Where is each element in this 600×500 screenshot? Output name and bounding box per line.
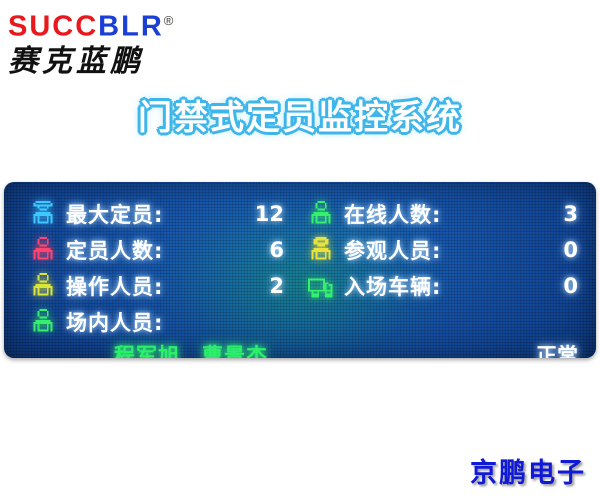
brand-wordmark-red: SUCC <box>8 11 98 43</box>
led-label-operator-count: 操作人员: <box>66 271 242 301</box>
registered-trademark-icon: ® <box>164 13 174 28</box>
brand-wordmark-blue: BLR <box>98 11 164 43</box>
led-value-operator-count: 2 <box>242 274 298 298</box>
person-icon <box>20 233 66 267</box>
led-value-assigned-count: 6 <box>242 238 298 262</box>
led-label-vehicle-count: 入场车辆: <box>344 271 520 301</box>
person-icon <box>20 305 66 339</box>
led-grid: 最大定员: 12 在线人数: 3 <box>4 182 596 358</box>
truck-icon <box>298 269 344 303</box>
status-badge: 正常 <box>520 340 592 358</box>
brand-header: SUCCBLR® 赛克蓝鹏 <box>8 6 228 76</box>
led-label-online-count: 在线人数: <box>344 199 520 229</box>
led-value-online-count: 3 <box>520 202 592 226</box>
person-helmet-icon <box>298 233 344 267</box>
page-title: 门禁式定员监控系统 <box>0 90 600 139</box>
led-value-vehicle-count: 0 <box>520 274 592 298</box>
person-icon <box>20 269 66 303</box>
brand-name-chinese: 赛克蓝鹏 <box>8 44 228 80</box>
led-label-assigned-count: 定员人数: <box>66 235 242 265</box>
led-label-onsite-personnel: 场内人员: <box>66 307 242 337</box>
led-value-visitor-count: 0 <box>520 238 592 262</box>
led-display-panel: 最大定员: 12 在线人数: 3 <box>4 182 596 358</box>
person-helmet-icon <box>20 197 66 231</box>
brand-wordmark: SUCCBLR® <box>8 6 228 42</box>
led-value-onsite-names: 程军旭 曹景杰 <box>66 340 520 358</box>
led-label-visitor-count: 参观人员: <box>344 235 520 265</box>
footer-brand: 京鹏电子 <box>470 451 586 490</box>
led-value-max-capacity: 12 <box>242 202 298 226</box>
led-label-max-capacity: 最大定员: <box>66 199 242 229</box>
person-icon <box>298 197 344 231</box>
